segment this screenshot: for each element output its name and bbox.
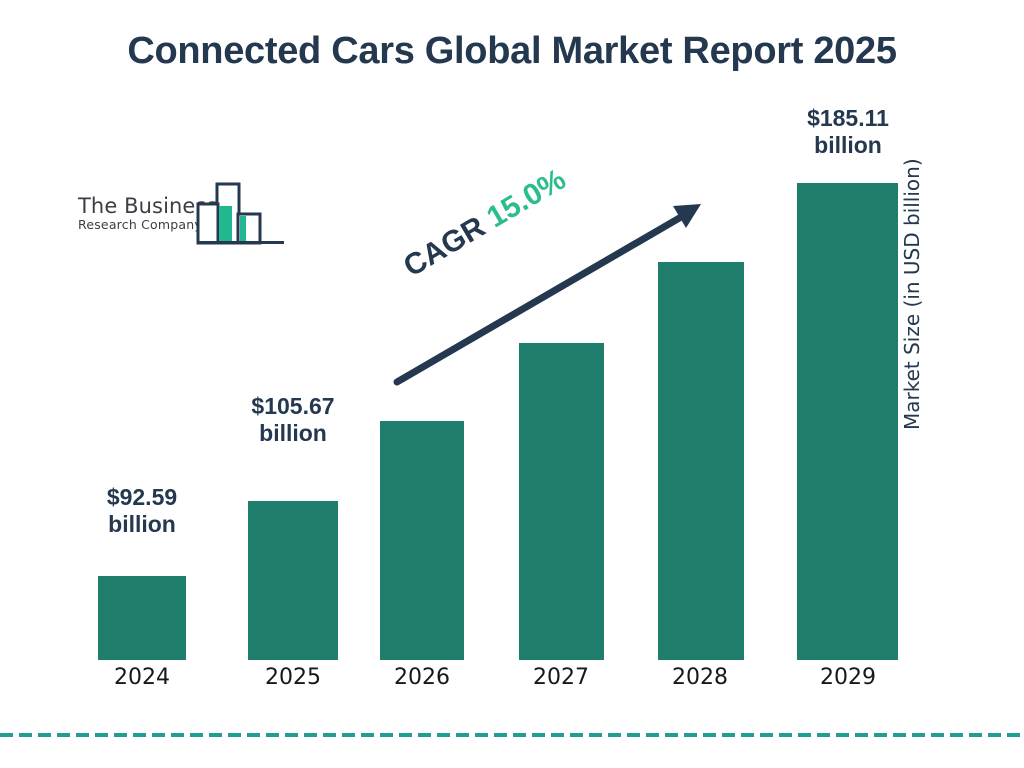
plot-area: $92.59 billion 2024 $105.67 billion 2025… xyxy=(0,0,1024,768)
bar-2026 xyxy=(380,421,464,660)
x-tick-2025: 2025 xyxy=(248,665,338,690)
bar-2024 xyxy=(98,576,186,660)
x-tick-2024: 2024 xyxy=(98,665,186,690)
bar-value-2024: $92.59 billion xyxy=(72,484,212,538)
bar-2029 xyxy=(797,183,898,660)
y-axis-title: Market Size (in USD billion) xyxy=(900,100,924,430)
bar-2028 xyxy=(658,262,744,660)
bar-value-2025: $105.67 billion xyxy=(223,393,363,447)
x-tick-2029: 2029 xyxy=(800,665,896,690)
x-tick-2028: 2028 xyxy=(656,665,744,690)
bar-2027 xyxy=(519,343,604,660)
x-tick-2027: 2027 xyxy=(517,665,605,690)
chart-canvas: Connected Cars Global Market Report 2025… xyxy=(0,0,1024,768)
x-tick-2026: 2026 xyxy=(378,665,466,690)
bar-2025 xyxy=(248,501,338,660)
bottom-divider xyxy=(0,733,1024,737)
